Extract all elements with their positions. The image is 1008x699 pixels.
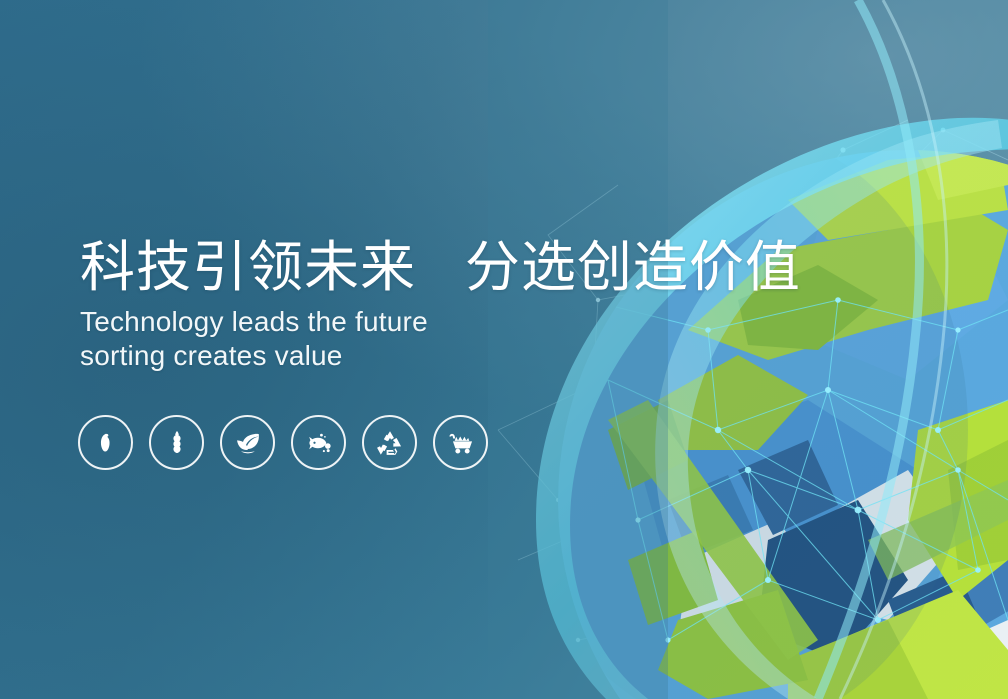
tea-leaf-icon [233, 428, 263, 458]
banner-text-block: 科技引领未来 分选创造价值 Technology leads the futur… [80, 238, 780, 373]
icon-badge-rice-grain[interactable] [78, 415, 133, 470]
icon-badge-recycling[interactable] [362, 415, 417, 470]
icon-badge-tea-leaf[interactable] [220, 415, 275, 470]
icon-badge-mine-cart[interactable] [433, 415, 488, 470]
banner-subtitle-english: Technology leads the future sorting crea… [80, 305, 780, 372]
recycling-icon [375, 428, 405, 458]
icon-badge-fish[interactable] [291, 415, 346, 470]
subtitle-line-1: Technology leads the future [80, 305, 780, 339]
mine-cart-icon [446, 428, 476, 458]
wheat-stalk-icon [162, 428, 192, 458]
icon-badge-wheat-stalk[interactable] [149, 415, 204, 470]
subtitle-line-2: sorting creates value [80, 339, 780, 373]
fish-icon [304, 428, 334, 458]
banner-headline-chinese: 科技引领未来 分选创造价值 [80, 238, 780, 297]
rice-grain-icon [91, 428, 121, 458]
industry-icon-row [78, 415, 488, 470]
hero-banner: 科技引领未来 分选创造价值 Technology leads the futur… [0, 0, 1008, 699]
